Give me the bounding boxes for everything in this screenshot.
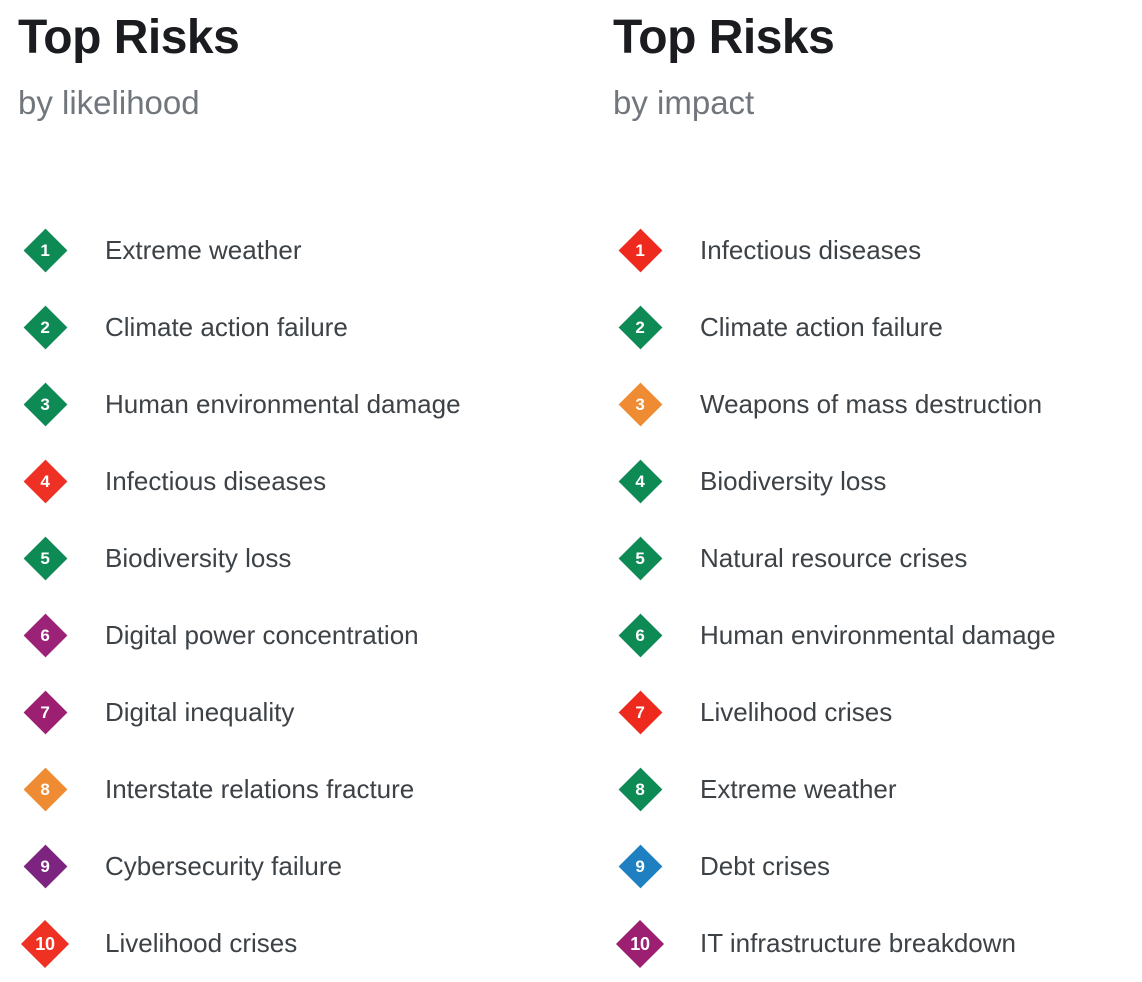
rank-number: 5 bbox=[40, 550, 49, 567]
rank-diamond-icon: 4 bbox=[23, 460, 67, 504]
page-title: Top Risks bbox=[613, 14, 1142, 62]
list-item: 2Climate action failure bbox=[18, 289, 600, 366]
list-item: 3Weapons of mass destruction bbox=[613, 366, 1142, 443]
risk-label: Extreme weather bbox=[67, 236, 302, 265]
rank-number: 4 bbox=[635, 473, 644, 490]
column-header-impact: Top Risks by impact bbox=[613, 0, 1142, 119]
list-item: 5Natural resource crises bbox=[613, 520, 1142, 597]
rank-number: 8 bbox=[635, 781, 644, 798]
rank-number: 9 bbox=[635, 858, 644, 875]
rank-number: 6 bbox=[635, 627, 644, 644]
rank-number: 7 bbox=[40, 704, 49, 721]
rank-number: 2 bbox=[635, 319, 644, 336]
rank-number: 1 bbox=[40, 242, 49, 259]
list-item: 7Livelihood crises bbox=[613, 674, 1142, 751]
risk-label: Infectious diseases bbox=[67, 467, 326, 496]
risk-label: Interstate relations fracture bbox=[67, 775, 414, 804]
rank-number: 5 bbox=[635, 550, 644, 567]
rank-diamond-icon: 4 bbox=[618, 460, 662, 504]
rank-number: 8 bbox=[40, 781, 49, 798]
rank-diamond-icon: 10 bbox=[618, 922, 662, 966]
rank-diamond-icon: 7 bbox=[618, 691, 662, 735]
rank-diamond-icon: 10 bbox=[23, 922, 67, 966]
list-item: 4Biodiversity loss bbox=[613, 443, 1142, 520]
list-item: 6Digital power concentration bbox=[18, 597, 600, 674]
rank-diamond-icon: 8 bbox=[23, 768, 67, 812]
risk-label: Climate action failure bbox=[67, 313, 348, 342]
rank-number: 4 bbox=[40, 473, 49, 490]
rank-diamond-icon: 6 bbox=[23, 614, 67, 658]
risk-label: Livelihood crises bbox=[67, 929, 297, 958]
risk-label: Climate action failure bbox=[662, 313, 943, 342]
list-item: 2Climate action failure bbox=[613, 289, 1142, 366]
risk-label: Digital power concentration bbox=[67, 621, 419, 650]
rank-number: 3 bbox=[635, 396, 644, 413]
risk-column-impact: Top Risks by impact 1Infectious diseases… bbox=[600, 0, 1142, 976]
rank-number: 7 bbox=[635, 704, 644, 721]
risk-label: Biodiversity loss bbox=[67, 544, 291, 573]
risk-label: Natural resource crises bbox=[662, 544, 967, 573]
risk-label: Debt crises bbox=[662, 852, 830, 881]
rank-diamond-icon: 6 bbox=[618, 614, 662, 658]
rank-diamond-icon: 5 bbox=[23, 537, 67, 581]
rank-number: 1 bbox=[635, 242, 644, 259]
risk-label: Human environmental damage bbox=[662, 621, 1056, 650]
page-title: Top Risks bbox=[18, 14, 600, 62]
rank-diamond-icon: 9 bbox=[618, 845, 662, 889]
rank-diamond-icon: 1 bbox=[23, 229, 67, 273]
rank-diamond-icon: 1 bbox=[618, 229, 662, 273]
rank-number: 10 bbox=[630, 935, 649, 953]
list-item: 10IT infrastructure breakdown bbox=[613, 905, 1142, 982]
list-item: 9Cybersecurity failure bbox=[18, 828, 600, 905]
risk-label: Biodiversity loss bbox=[662, 467, 886, 496]
rank-diamond-icon: 9 bbox=[23, 845, 67, 889]
risk-column-likelihood: Top Risks by likelihood 1Extreme weather… bbox=[0, 0, 600, 976]
risk-list-likelihood: 1Extreme weather2Climate action failure3… bbox=[18, 212, 600, 982]
rank-number: 9 bbox=[40, 858, 49, 875]
list-item: 10Livelihood crises bbox=[18, 905, 600, 982]
rank-diamond-icon: 2 bbox=[23, 306, 67, 350]
list-item: 3Human environmental damage bbox=[18, 366, 600, 443]
risk-label: Extreme weather bbox=[662, 775, 897, 804]
list-item: 7Digital inequality bbox=[18, 674, 600, 751]
rank-number: 6 bbox=[40, 627, 49, 644]
list-item: 8Extreme weather bbox=[613, 751, 1142, 828]
top-risks-board: Top Risks by likelihood 1Extreme weather… bbox=[0, 0, 1142, 976]
risk-label: Infectious diseases bbox=[662, 236, 921, 265]
list-item: 1Infectious diseases bbox=[613, 212, 1142, 289]
list-item: 8Interstate relations fracture bbox=[18, 751, 600, 828]
rank-diamond-icon: 5 bbox=[618, 537, 662, 581]
rank-number: 3 bbox=[40, 396, 49, 413]
rank-diamond-icon: 3 bbox=[618, 383, 662, 427]
risk-label: Cybersecurity failure bbox=[67, 852, 342, 881]
rank-number: 2 bbox=[40, 319, 49, 336]
risk-label: Human environmental damage bbox=[67, 390, 461, 419]
rank-diamond-icon: 7 bbox=[23, 691, 67, 735]
page-subtitle: by impact bbox=[613, 62, 1142, 119]
rank-diamond-icon: 8 bbox=[618, 768, 662, 812]
rank-diamond-icon: 2 bbox=[618, 306, 662, 350]
rank-number: 10 bbox=[35, 935, 54, 953]
list-item: 6Human environmental damage bbox=[613, 597, 1142, 674]
page-subtitle: by likelihood bbox=[18, 62, 600, 119]
risk-label: Livelihood crises bbox=[662, 698, 892, 727]
list-item: 5Biodiversity loss bbox=[18, 520, 600, 597]
rank-diamond-icon: 3 bbox=[23, 383, 67, 427]
list-item: 4Infectious diseases bbox=[18, 443, 600, 520]
list-item: 9Debt crises bbox=[613, 828, 1142, 905]
risk-list-impact: 1Infectious diseases2Climate action fail… bbox=[613, 212, 1142, 982]
risk-label: Weapons of mass destruction bbox=[662, 390, 1042, 419]
list-item: 1Extreme weather bbox=[18, 212, 600, 289]
column-header-likelihood: Top Risks by likelihood bbox=[18, 0, 600, 119]
risk-label: Digital inequality bbox=[67, 698, 294, 727]
risk-label: IT infrastructure breakdown bbox=[662, 929, 1016, 958]
